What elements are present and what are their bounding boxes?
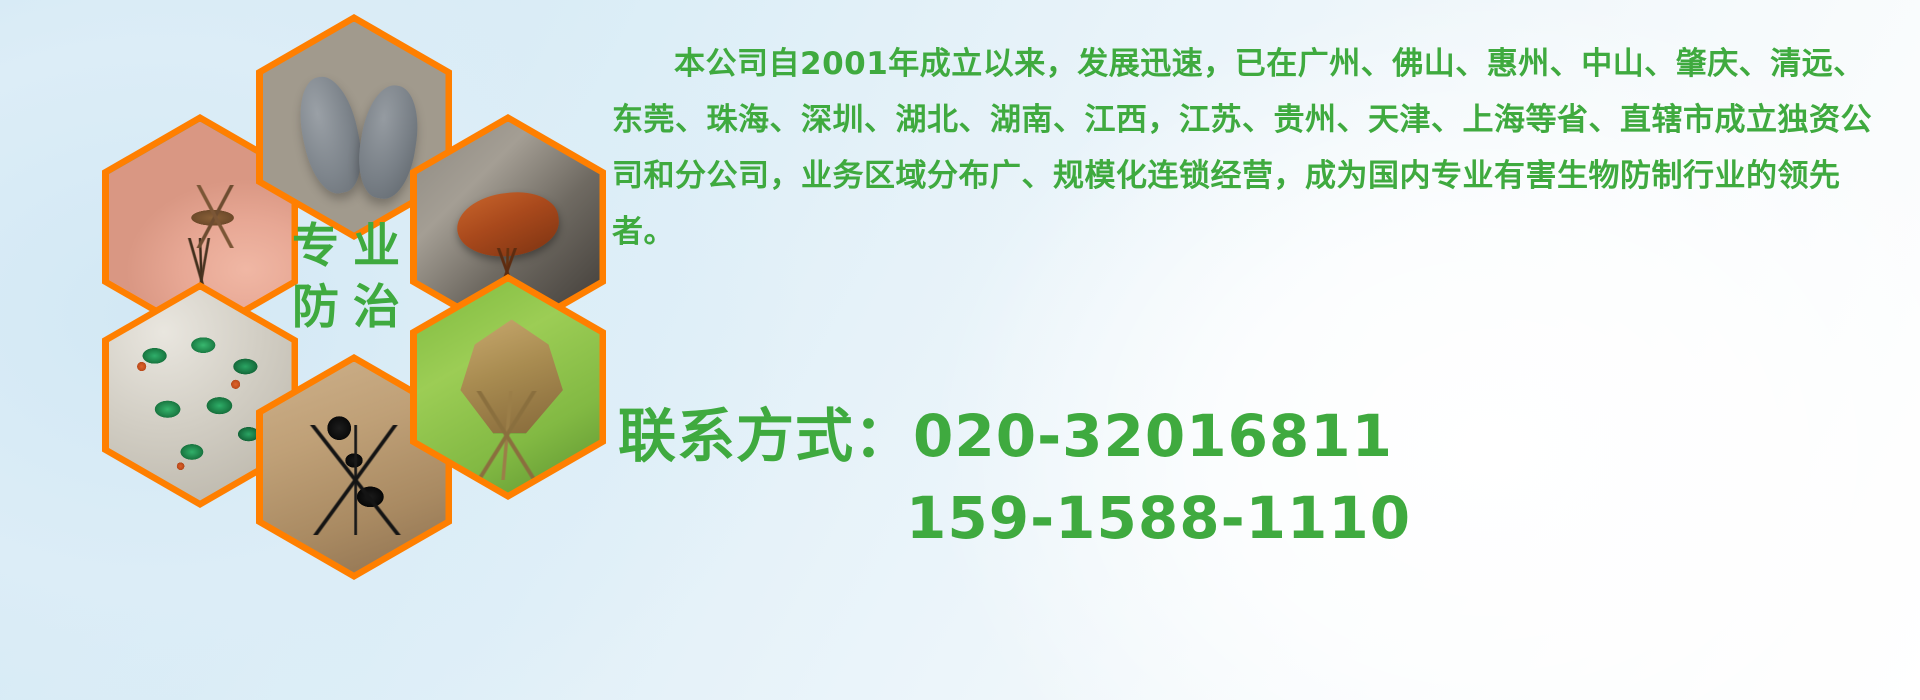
contact-phone-primary[interactable]: 联系方式：020-32016811 (618, 402, 1908, 470)
intro-copy: 本公司自2001年成立以来，发展迅速，已在广州、佛山、惠州、中山、肇庆、清远、东… (612, 36, 1880, 260)
slogan-line-2: 防治 (278, 284, 414, 331)
hexagon-photo-cluster: 专业 防治 (88, 0, 588, 552)
intro-paragraph: 本公司自2001年成立以来，发展迅速，已在广州、佛山、惠州、中山、肇庆、清远、东… (612, 36, 1880, 260)
slogan-line-1: 专业 (278, 223, 414, 270)
contact-block: 联系方式：020-32016811 159-1588-1110 (618, 402, 1908, 553)
pest-control-banner: 专业 防治 本公司自2001年成立以来，发展迅速，已在广州、佛山、惠州、中山、肇… (0, 0, 1920, 700)
contact-phone-secondary[interactable]: 159-1588-1110 (618, 484, 1908, 552)
